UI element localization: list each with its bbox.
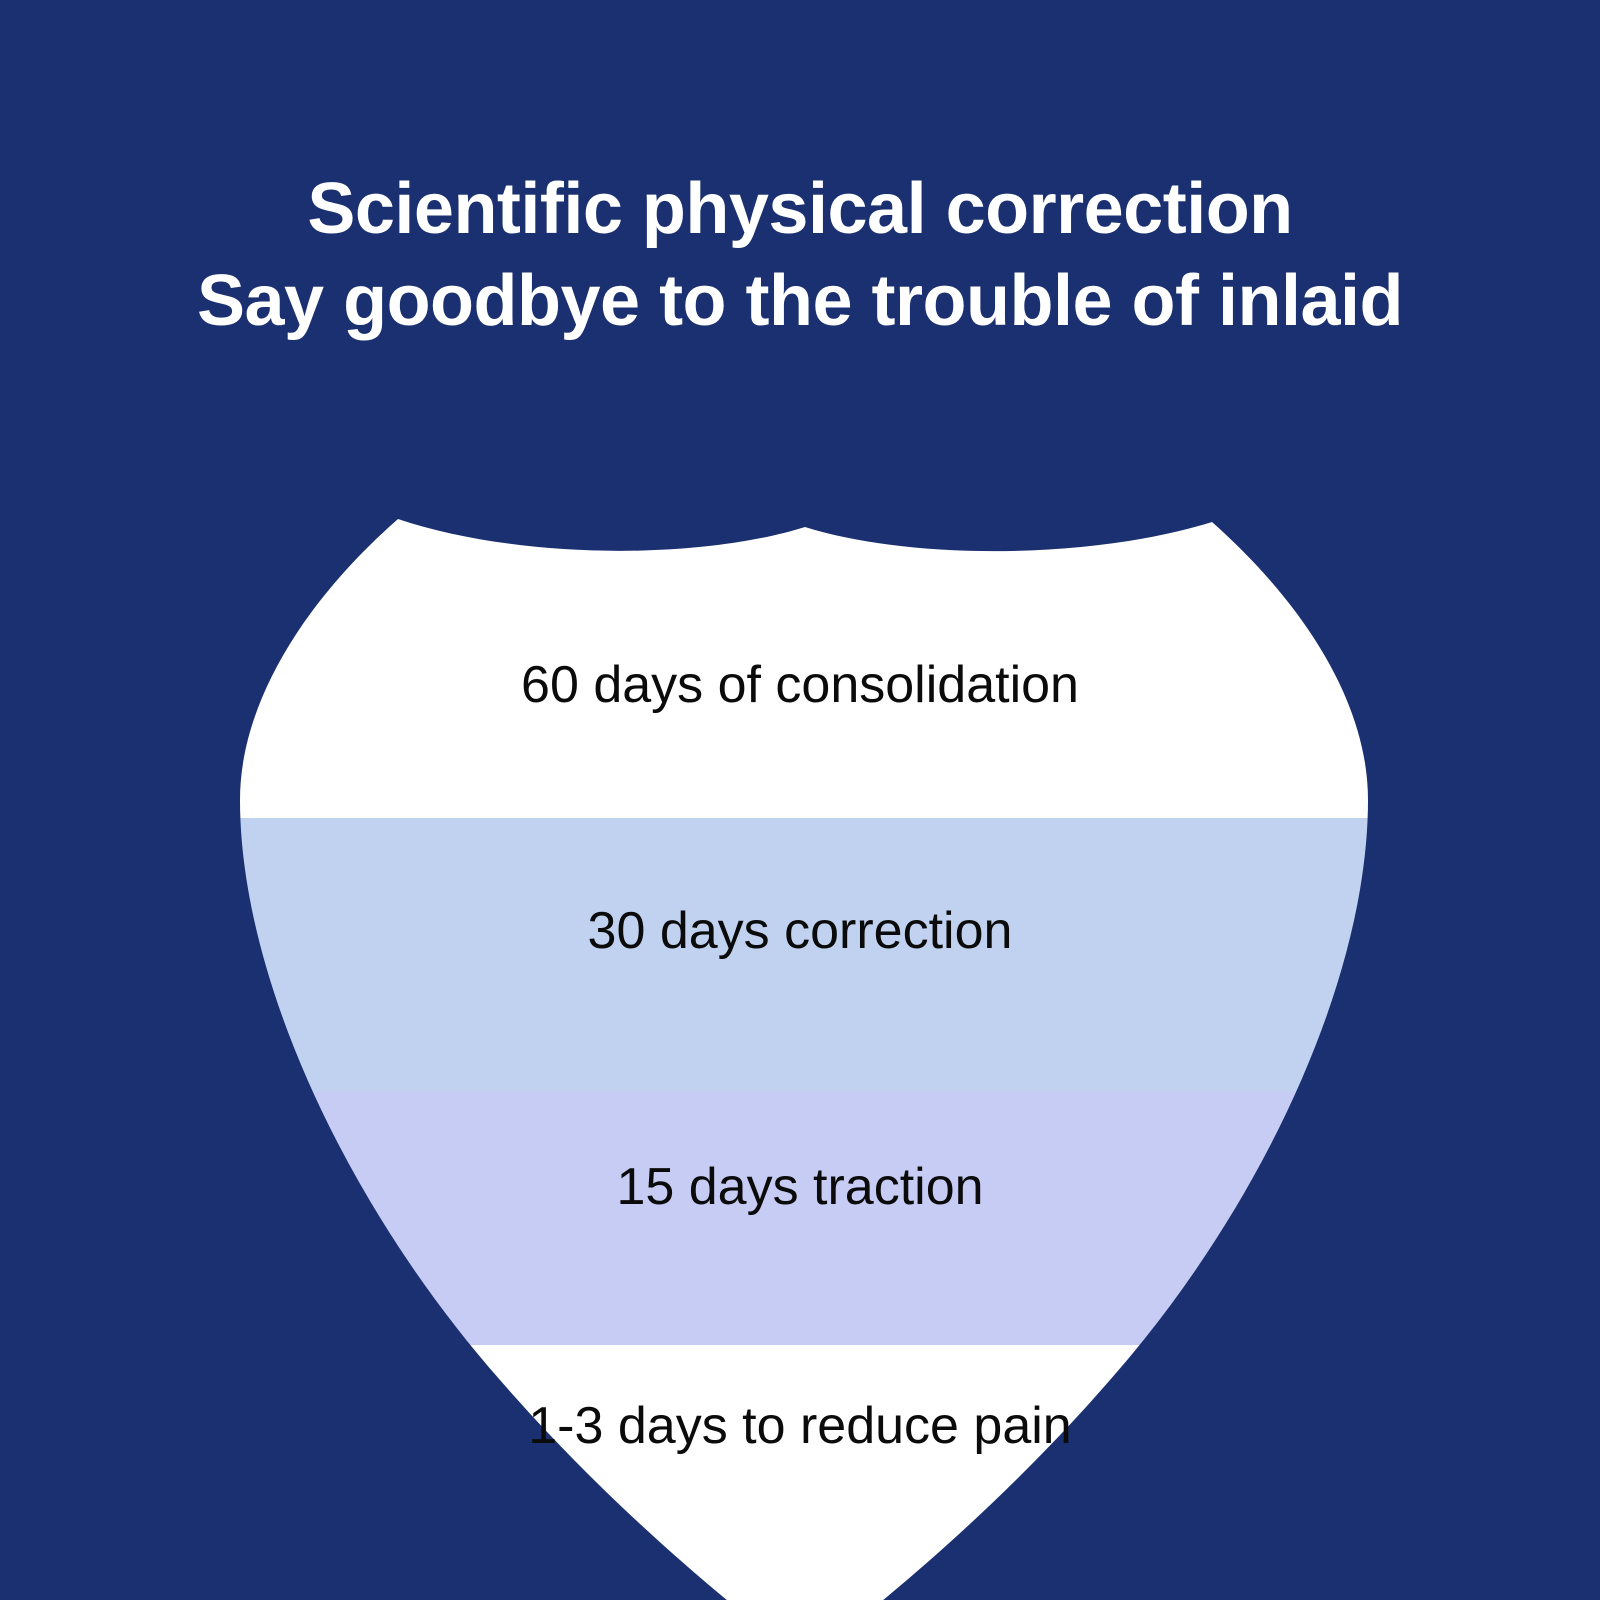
shield-graphic [0,0,1600,1600]
shield-band-3 [0,1345,1600,1600]
shield-band-0 [0,480,1600,818]
shield-band-label-1: 30 days correction [0,905,1600,957]
shield-band-label-0: 60 days of consolidation [0,659,1600,711]
shield-band-label-3: 1-3 days to reduce pain [0,1400,1600,1452]
poster-canvas: Scientific physical correction Say goodb… [0,0,1600,1600]
shield-band-2 [0,1092,1600,1345]
shield-svg [0,0,1600,1600]
shield-band-label-2: 15 days traction [0,1161,1600,1213]
